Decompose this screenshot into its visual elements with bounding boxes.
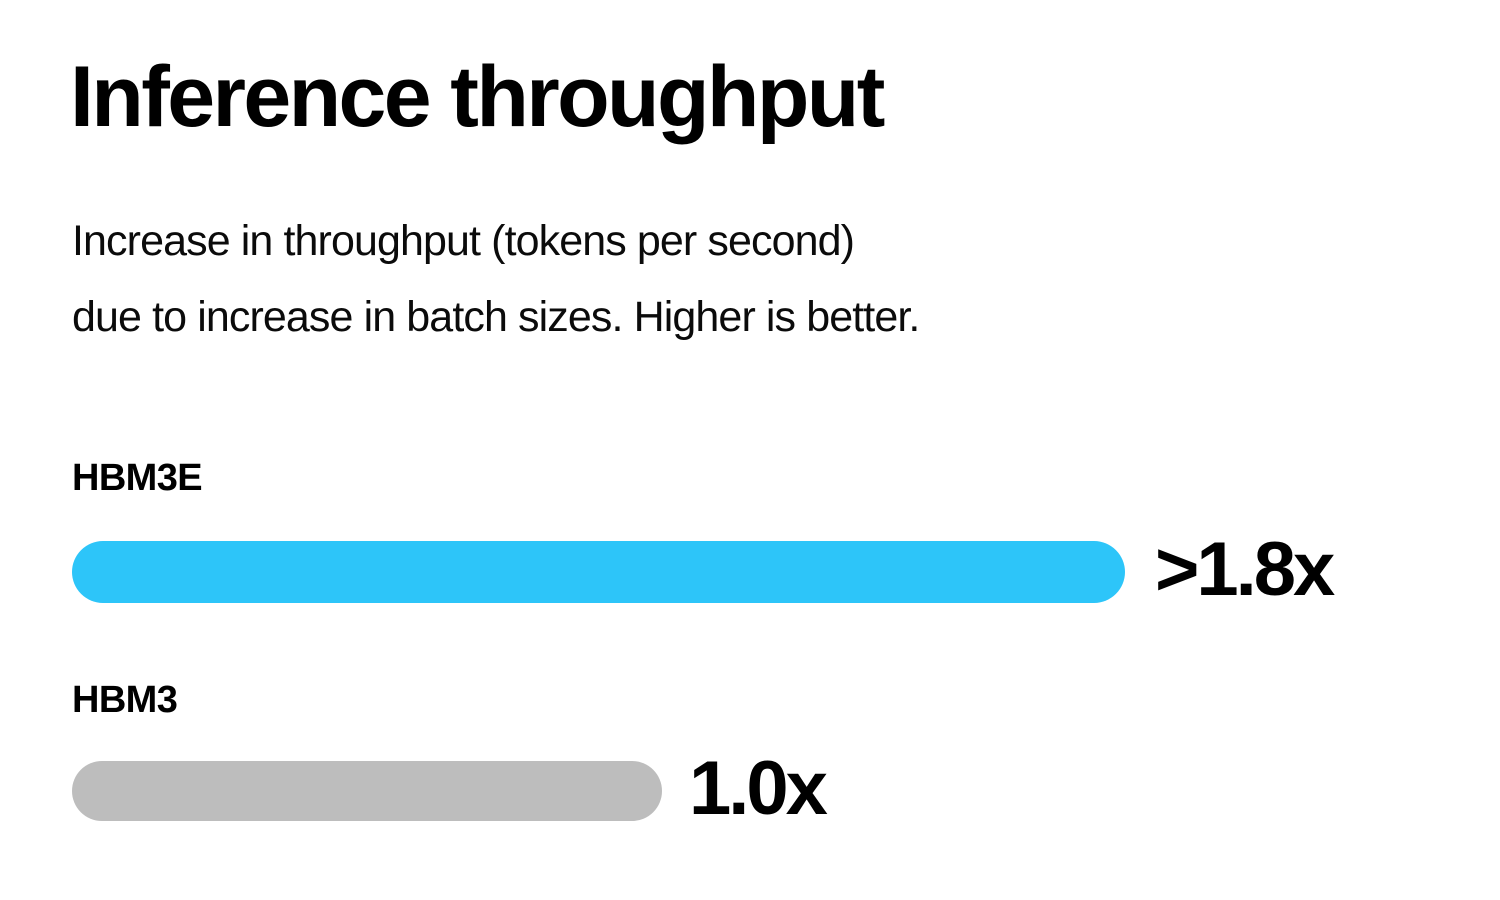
bar-value-label-hbm3: 1.0x [689, 759, 825, 819]
chart-canvas: Inference throughput Increase in through… [0, 0, 1500, 900]
bar-fill-hbm3 [72, 761, 662, 821]
bar-track-hbm3 [72, 761, 662, 821]
bar-row-hbm3: 1.0x [72, 761, 825, 821]
bar-chart-plot-area: HBM3E >1.8x HBM3 1.0x [0, 0, 1500, 900]
bar-value-label-hbm3e: >1.8x [1155, 539, 1332, 601]
bar-category-label-hbm3e: HBM3E [72, 455, 202, 501]
bar-row-hbm3e: >1.8x [72, 541, 1332, 603]
bar-category-label-hbm3: HBM3 [72, 677, 177, 723]
bar-track-hbm3e [72, 541, 1125, 603]
bar-fill-hbm3e [72, 541, 1125, 603]
